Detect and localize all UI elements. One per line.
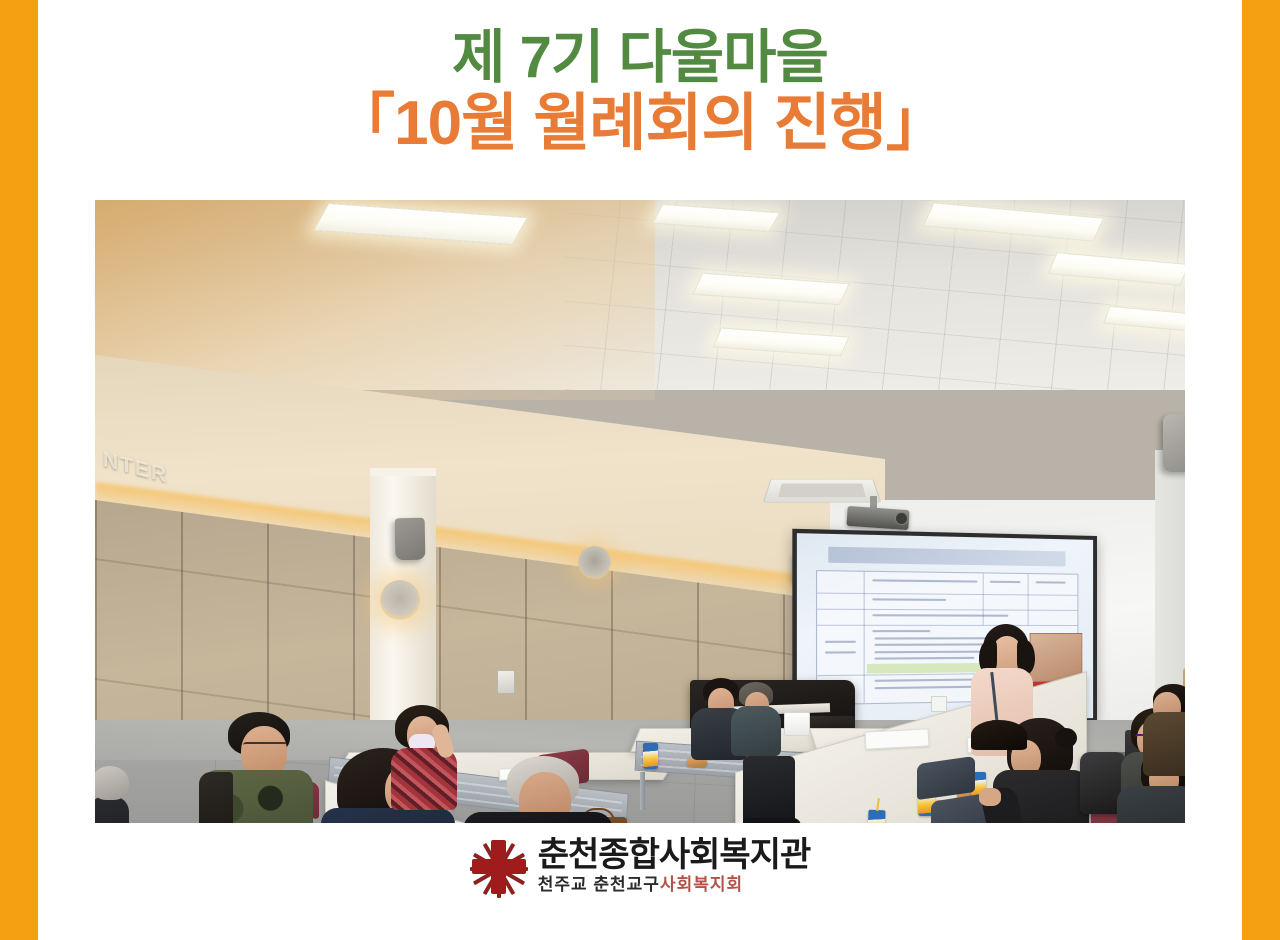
participant-hand bbox=[979, 788, 1001, 806]
wall-speaker bbox=[395, 518, 426, 561]
organization-logo: 춘천종합사회복지관 천주교 춘천교구사회복지회 bbox=[0, 838, 1280, 896]
eyeglasses-icon bbox=[243, 742, 287, 752]
title-line-1: 제 7기 다울마을 bbox=[0, 28, 1280, 88]
title-line-2: 「10월 월례회의 진행」 bbox=[0, 92, 1280, 156]
participant-jacket bbox=[95, 796, 129, 823]
participant-jacket bbox=[1143, 712, 1185, 776]
wall-sconce bbox=[578, 546, 611, 579]
diocese-name: 천주교 춘천교구 bbox=[538, 875, 660, 894]
wall-speaker bbox=[1163, 414, 1185, 472]
page-title: 제 7기 다울마을 「10월 월례회의 진행」 bbox=[0, 28, 1280, 157]
participant-vest bbox=[199, 772, 233, 823]
wall-outlet bbox=[931, 696, 947, 712]
welfare-association-name: 사회복지회 bbox=[660, 875, 743, 894]
participant-legs bbox=[743, 756, 795, 823]
slide-title-bar bbox=[828, 547, 1065, 566]
meeting-documents bbox=[865, 728, 930, 749]
projector-lens-icon bbox=[895, 512, 908, 525]
organization-subtitle: 천주교 춘천교구사회복지회 bbox=[538, 875, 811, 895]
juice-pouch bbox=[643, 743, 658, 769]
participant-grey-hair bbox=[95, 766, 129, 800]
title-line-2-text: 10월 월례회의 진행 bbox=[394, 89, 886, 158]
ac-vent bbox=[778, 483, 866, 497]
bracket-close: 」 bbox=[886, 89, 947, 158]
participant-jacket bbox=[1117, 786, 1185, 823]
organization-name: 춘천종합사회복지관 bbox=[538, 838, 811, 874]
wall-sign-text: NTER bbox=[103, 448, 168, 489]
meeting-photo: NTER bbox=[95, 200, 1185, 823]
participant-shoe bbox=[743, 818, 801, 823]
tissue-box bbox=[784, 712, 810, 736]
ceiling-air-conditioner bbox=[763, 479, 882, 502]
caritas-cross-icon bbox=[470, 838, 528, 896]
participant-ponytail bbox=[1055, 728, 1077, 748]
participant-hair bbox=[971, 720, 1027, 750]
table-leg bbox=[640, 772, 645, 810]
bracket-open: 「 bbox=[333, 89, 394, 158]
wall-sconce bbox=[380, 580, 420, 620]
logo-text-block: 춘천종합사회복지관 천주교 춘천교구사회복지회 bbox=[538, 838, 811, 895]
participant-jacket bbox=[731, 706, 781, 756]
juice-pouch bbox=[867, 810, 885, 823]
participant-coat bbox=[321, 808, 455, 823]
wall-thermostat bbox=[497, 670, 515, 694]
poster-canvas: 제 7기 다울마을 「10월 월례회의 진행」 NTER bbox=[0, 0, 1280, 940]
participant-collar bbox=[463, 812, 613, 823]
